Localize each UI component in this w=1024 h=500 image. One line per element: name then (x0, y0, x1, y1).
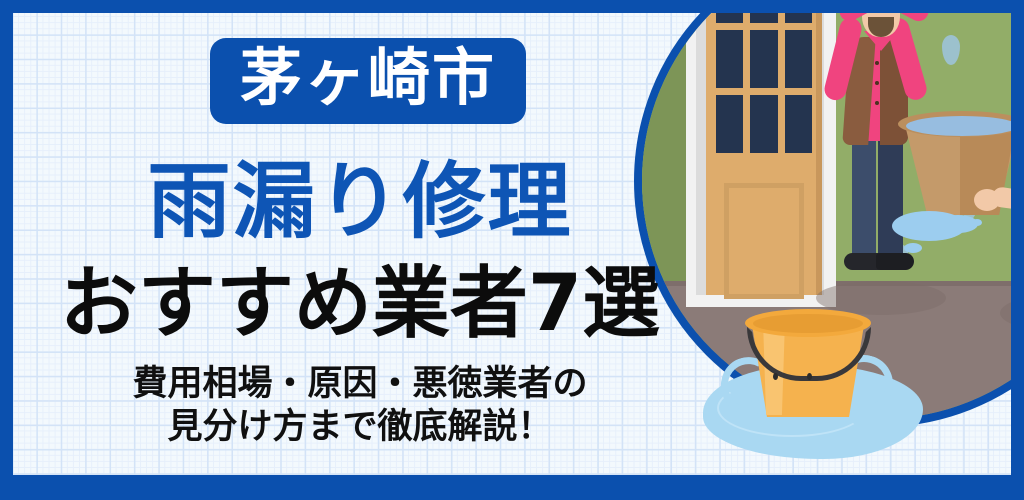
floor-puddle-drop (904, 243, 922, 253)
door (706, 13, 822, 295)
shoe (876, 253, 914, 270)
button (875, 101, 879, 105)
hand (974, 189, 1000, 211)
door-pane (785, 13, 812, 23)
door-lower-panel (724, 183, 804, 299)
person-with-bucket (1010, 85, 1011, 305)
door-pane (785, 30, 812, 88)
floor-puddle-drop (972, 219, 982, 226)
door-pane (785, 95, 812, 153)
banner-frame: 茅ヶ崎市 雨漏り修理 おすすめ業者7選 費用相場・原因・悪徳業者の 見分け方まで… (0, 0, 1024, 500)
door-pane (716, 95, 743, 153)
door-pane (716, 30, 743, 88)
button (875, 61, 879, 65)
door-glass-grid (716, 13, 812, 153)
leg (852, 131, 876, 259)
grid-paper-panel: 茅ヶ崎市 雨漏り修理 おすすめ業者7選 費用相場・原因・悪徳業者の 見分け方まで… (13, 13, 1011, 475)
leak-hole (807, 373, 812, 380)
door-pane (750, 30, 777, 88)
door-pane (716, 13, 743, 23)
subline: 費用相場・原因・悪徳業者の 見分け方まで徹底解説！ (50, 363, 670, 448)
subline-line-1: 費用相場・原因・悪徳業者の (50, 363, 670, 406)
door-pane (750, 95, 777, 153)
leaking-bucket-scene (703, 303, 923, 463)
leak-hole (773, 373, 778, 380)
headline-secondary: おすすめ業者7選 (50, 265, 670, 343)
door-pane (750, 13, 777, 23)
city-badge: 茅ヶ崎市 (210, 38, 526, 124)
headline-primary: 雨漏り修理 (50, 160, 670, 243)
button (875, 81, 879, 85)
subline-line-2: 見分け方まで徹底解説！ (50, 406, 670, 449)
bucket-water (906, 116, 1011, 136)
